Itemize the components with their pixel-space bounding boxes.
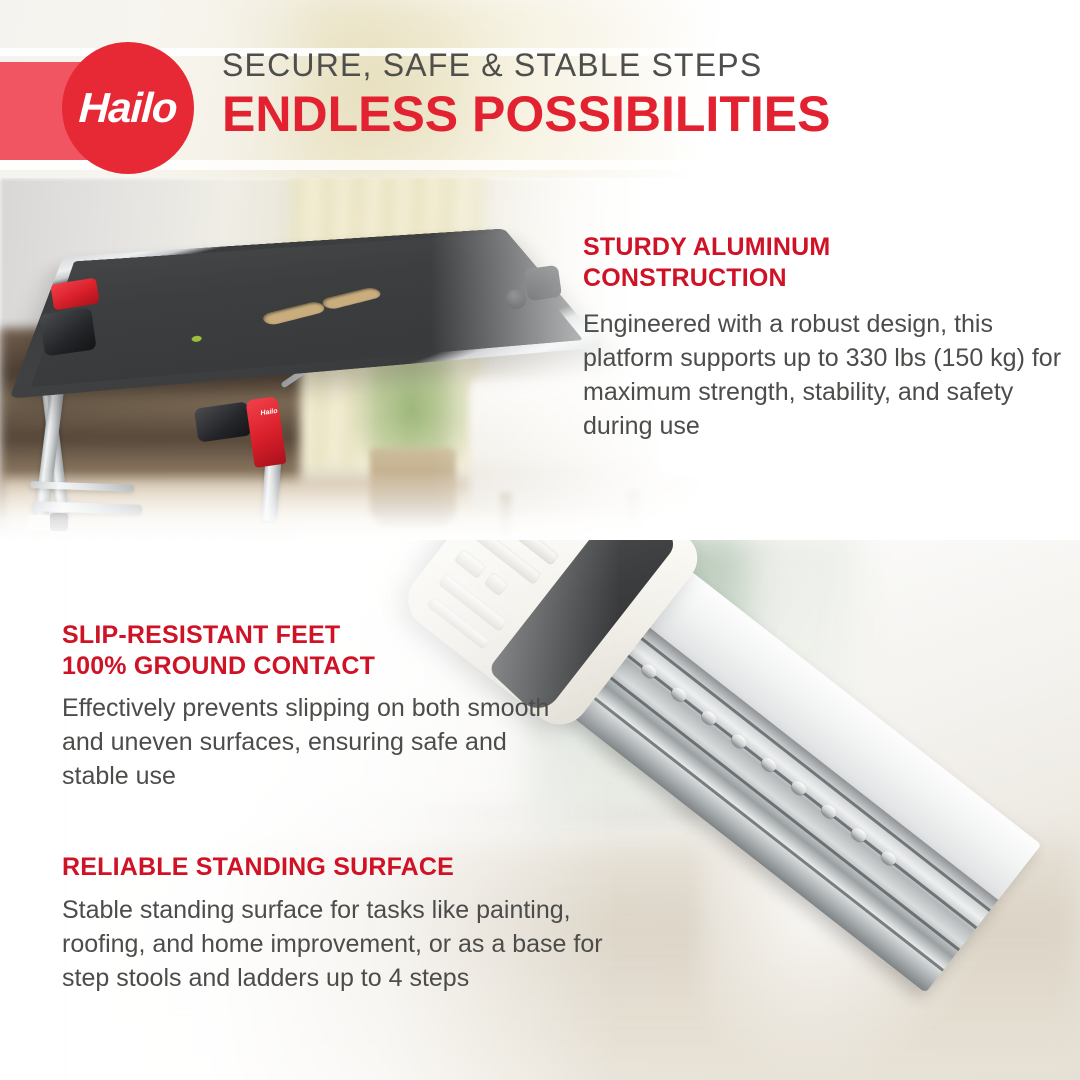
hailo-logo: Hailo: [62, 42, 194, 174]
feature-title-line2: 100% GROUND CONTACT: [62, 651, 562, 682]
platform-corner-cap-front: [194, 401, 252, 442]
header-title-group: SECURE, SAFE & STABLE STEPS ENDLESS POSS…: [222, 48, 830, 141]
hailo-logo-text: Hailo: [78, 87, 178, 129]
feature-body-text: Stable standing surface for tasks like p…: [62, 893, 642, 995]
feature-title-line1: SLIP-RESISTANT FEET: [62, 620, 562, 651]
feature-block-sturdy-aluminum: STURDY ALUMINUM CONSTRUCTION Engineered …: [583, 232, 1063, 443]
feature-body-text: Engineered with a robust design, this pl…: [583, 307, 1063, 443]
feature-body-text: Effectively prevents slipping on both sm…: [62, 691, 562, 793]
feature-block-reliable-standing-surface: RELIABLE STANDING SURFACE Stable standin…: [62, 852, 642, 995]
platform-green-marker: [192, 335, 202, 342]
feature-title-line1: RELIABLE STANDING SURFACE: [62, 852, 642, 883]
feature-block-slip-resistant-feet: SLIP-RESISTANT FEET 100% GROUND CONTACT …: [62, 620, 562, 793]
platform-hand-slot-right: [319, 286, 384, 310]
header-banner: Hailo SECURE, SAFE & STABLE STEPS ENDLES…: [0, 0, 1080, 178]
infographic-page: Hailo SECURE, SAFE & STABLE STEPS ENDLES…: [0, 0, 1080, 1080]
platform-corner-cap-left: [39, 308, 96, 357]
header-eyebrow: SECURE, SAFE & STABLE STEPS: [222, 48, 830, 83]
feature-title-line2: CONSTRUCTION: [583, 263, 1063, 294]
platform-hand-slot-left: [260, 300, 327, 326]
header-headline: ENDLESS POSSIBILITIES: [222, 87, 830, 141]
feature-title-line1: STURDY ALUMINUM: [583, 232, 1063, 263]
